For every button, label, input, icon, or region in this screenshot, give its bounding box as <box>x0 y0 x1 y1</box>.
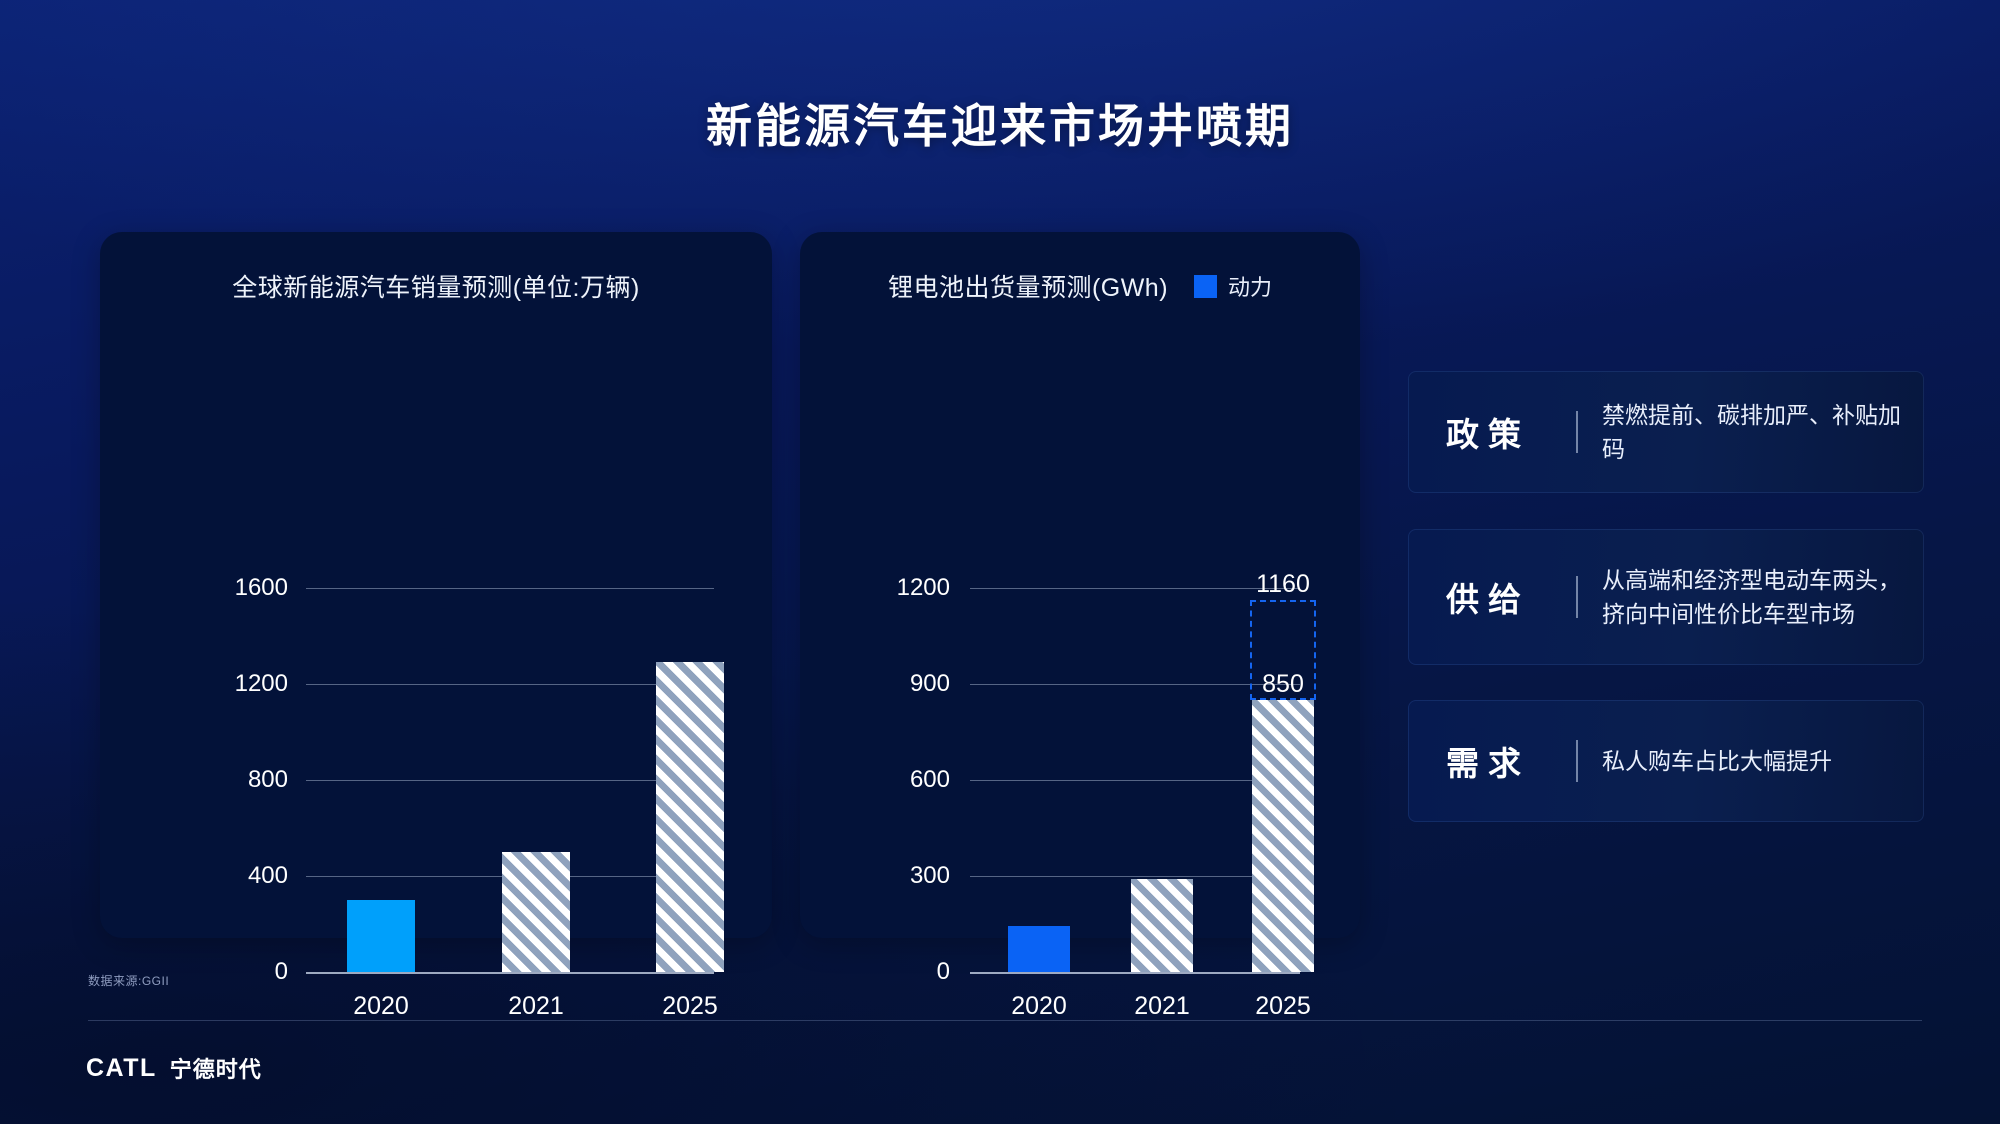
gridline-1200 <box>306 684 714 685</box>
info-card-policy[interactable]: 政策 禁燃提前、碳排加严、补贴加码 <box>1408 371 1924 493</box>
card-divider <box>1576 740 1578 782</box>
bar-right-2021[interactable] <box>1131 879 1193 972</box>
catl-logo-latin: CATL <box>86 1054 157 1083</box>
xtick-left-2020: 2020 <box>321 992 441 1021</box>
info-card-supply-line-1: 从高端和经济型电动车两头， <box>1602 563 1901 597</box>
info-card-demand-line-1: 私人购车占比大幅提升 <box>1602 744 1832 778</box>
info-card-supply-text: 从高端和经济型电动车两头， 挤向中间性价比车型市场 <box>1602 563 1919 631</box>
ytick-right-300: 300 <box>800 862 950 890</box>
axis-baseline-left <box>306 972 714 974</box>
data-source-note: 数据来源:GGII <box>88 972 169 989</box>
info-card-supply-key: 供给 <box>1408 573 1576 621</box>
info-card-demand-text: 私人购车占比大幅提升 <box>1602 744 1850 778</box>
ytick-right-0: 0 <box>800 958 950 986</box>
card-divider <box>1576 576 1578 618</box>
bar-right-2025[interactable] <box>1252 700 1314 972</box>
catl-logo: CATL 宁德时代 <box>86 1052 262 1084</box>
gridline-1600 <box>306 588 714 589</box>
bar-left-2021[interactable] <box>502 852 570 972</box>
gridline-800 <box>306 780 714 781</box>
card-divider <box>1576 411 1578 453</box>
axis-baseline-right <box>970 972 1300 974</box>
ytick-right-900: 900 <box>800 670 950 698</box>
value-label-1160: 1160 <box>1223 570 1343 599</box>
info-card-policy-key: 政策 <box>1408 408 1576 456</box>
bar-left-2025[interactable] <box>656 662 724 972</box>
xtick-left-2025: 2025 <box>630 992 750 1021</box>
chart-panel-ev-sales: 全球新能源汽车销量预测(单位:万辆) 1600 1200 800 400 0 2… <box>100 232 772 938</box>
info-card-supply-line-2: 挤向中间性价比车型市场 <box>1602 597 1901 631</box>
xtick-left-2021: 2021 <box>476 992 596 1021</box>
catl-logo-chinese: 宁德时代 <box>170 1052 262 1084</box>
ytick-left-1600: 1600 <box>118 574 288 602</box>
ytick-right-600: 600 <box>800 766 950 794</box>
gridline-300 <box>970 876 1300 877</box>
value-label-850: 850 <box>1223 670 1343 699</box>
info-card-demand[interactable]: 需求 私人购车占比大幅提升 <box>1408 700 1924 822</box>
xtick-right-2020: 2020 <box>979 992 1099 1021</box>
ytick-left-800: 800 <box>118 766 288 794</box>
info-card-supply[interactable]: 供给 从高端和经济型电动车两头， 挤向中间性价比车型市场 <box>1408 529 1924 665</box>
xtick-right-2021: 2021 <box>1102 992 1222 1021</box>
ytick-left-400: 400 <box>118 862 288 890</box>
plot-area-left: 1600 1200 800 400 0 2020 2021 2025 <box>100 232 772 938</box>
xtick-right-2025: 2025 <box>1223 992 1343 1021</box>
plot-area-right: 1200 900 600 300 0 1160 850 2020 2021 20… <box>800 232 1360 938</box>
slide-root: 新能源汽车迎来市场井喷期 全球新能源汽车销量预测(单位:万辆) 1600 120… <box>0 0 2000 1124</box>
info-card-demand-key: 需求 <box>1408 737 1576 785</box>
footer-divider <box>88 1020 1922 1021</box>
bar-right-2020[interactable] <box>1008 926 1070 972</box>
info-card-policy-line-1: 禁燃提前、碳排加严、补贴加码 <box>1602 398 1906 466</box>
page-title: 新能源汽车迎来市场井喷期 <box>0 90 2000 156</box>
ytick-right-1200: 1200 <box>800 574 950 602</box>
ytick-left-1200: 1200 <box>118 670 288 698</box>
gridline-600 <box>970 780 1300 781</box>
bar-left-2020[interactable] <box>347 900 415 972</box>
chart-panel-battery-shipments: 锂电池出货量预测(GWh) 动力 1200 900 600 300 0 <box>800 232 1360 938</box>
info-card-policy-text: 禁燃提前、碳排加严、补贴加码 <box>1602 398 1924 466</box>
